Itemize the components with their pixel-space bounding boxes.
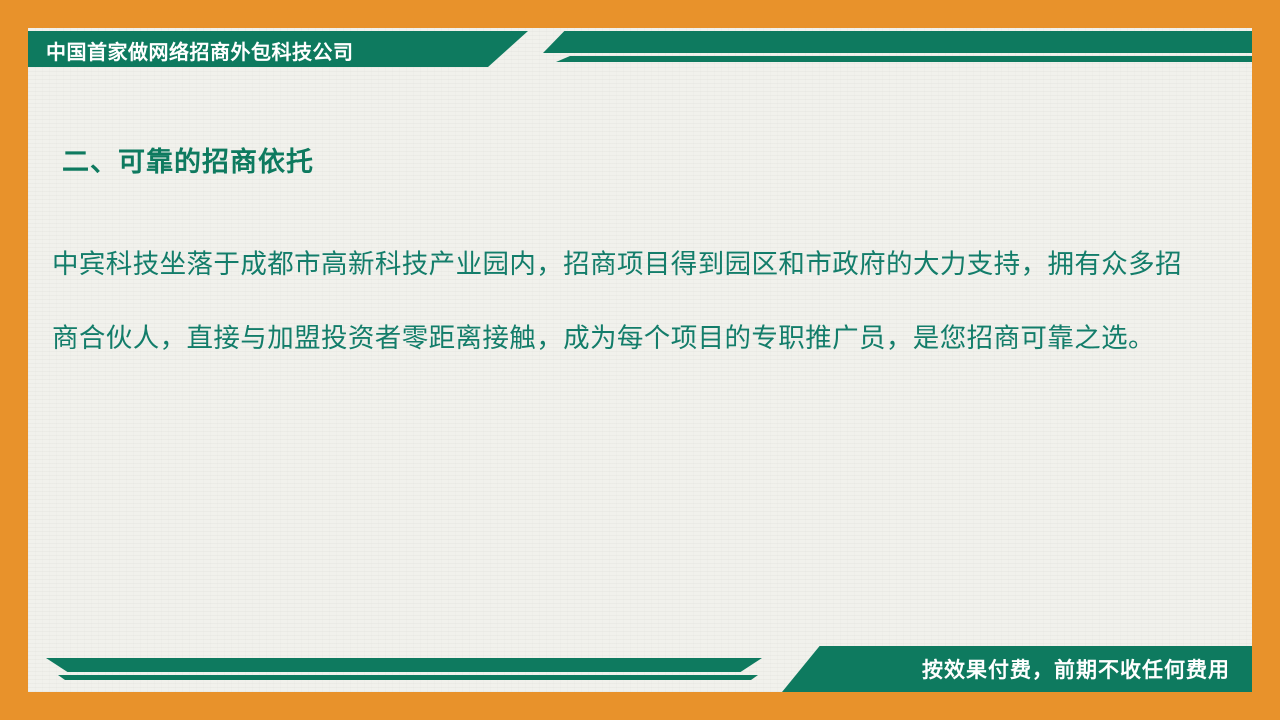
footer-accent-bar-bottom — [58, 675, 758, 680]
body-paragraph: 中宾科技坐落于成都市高新科技产业园内，招商项目得到园区和市政府的大力支持，拥有众… — [52, 228, 1182, 376]
footer-text: 按效果付费，前期不收任何费用 — [922, 654, 1230, 684]
footer-accent-bar-top — [46, 658, 762, 672]
slide: 中国首家做网络招商外包科技公司 二、可靠的招商依托 中宾科技坐落于成都市高新科技… — [0, 0, 1280, 720]
header-band: 中国首家做网络招商外包科技公司 — [28, 31, 1252, 67]
header-accent-bar-top — [543, 31, 1252, 53]
section-heading: 二、可靠的招商依托 — [62, 140, 314, 179]
header-title: 中国首家做网络招商外包科技公司 — [46, 36, 354, 65]
header-accent-bar-bottom — [556, 56, 1252, 62]
footer-band: 按效果付费，前期不收任何费用 — [28, 646, 1252, 692]
